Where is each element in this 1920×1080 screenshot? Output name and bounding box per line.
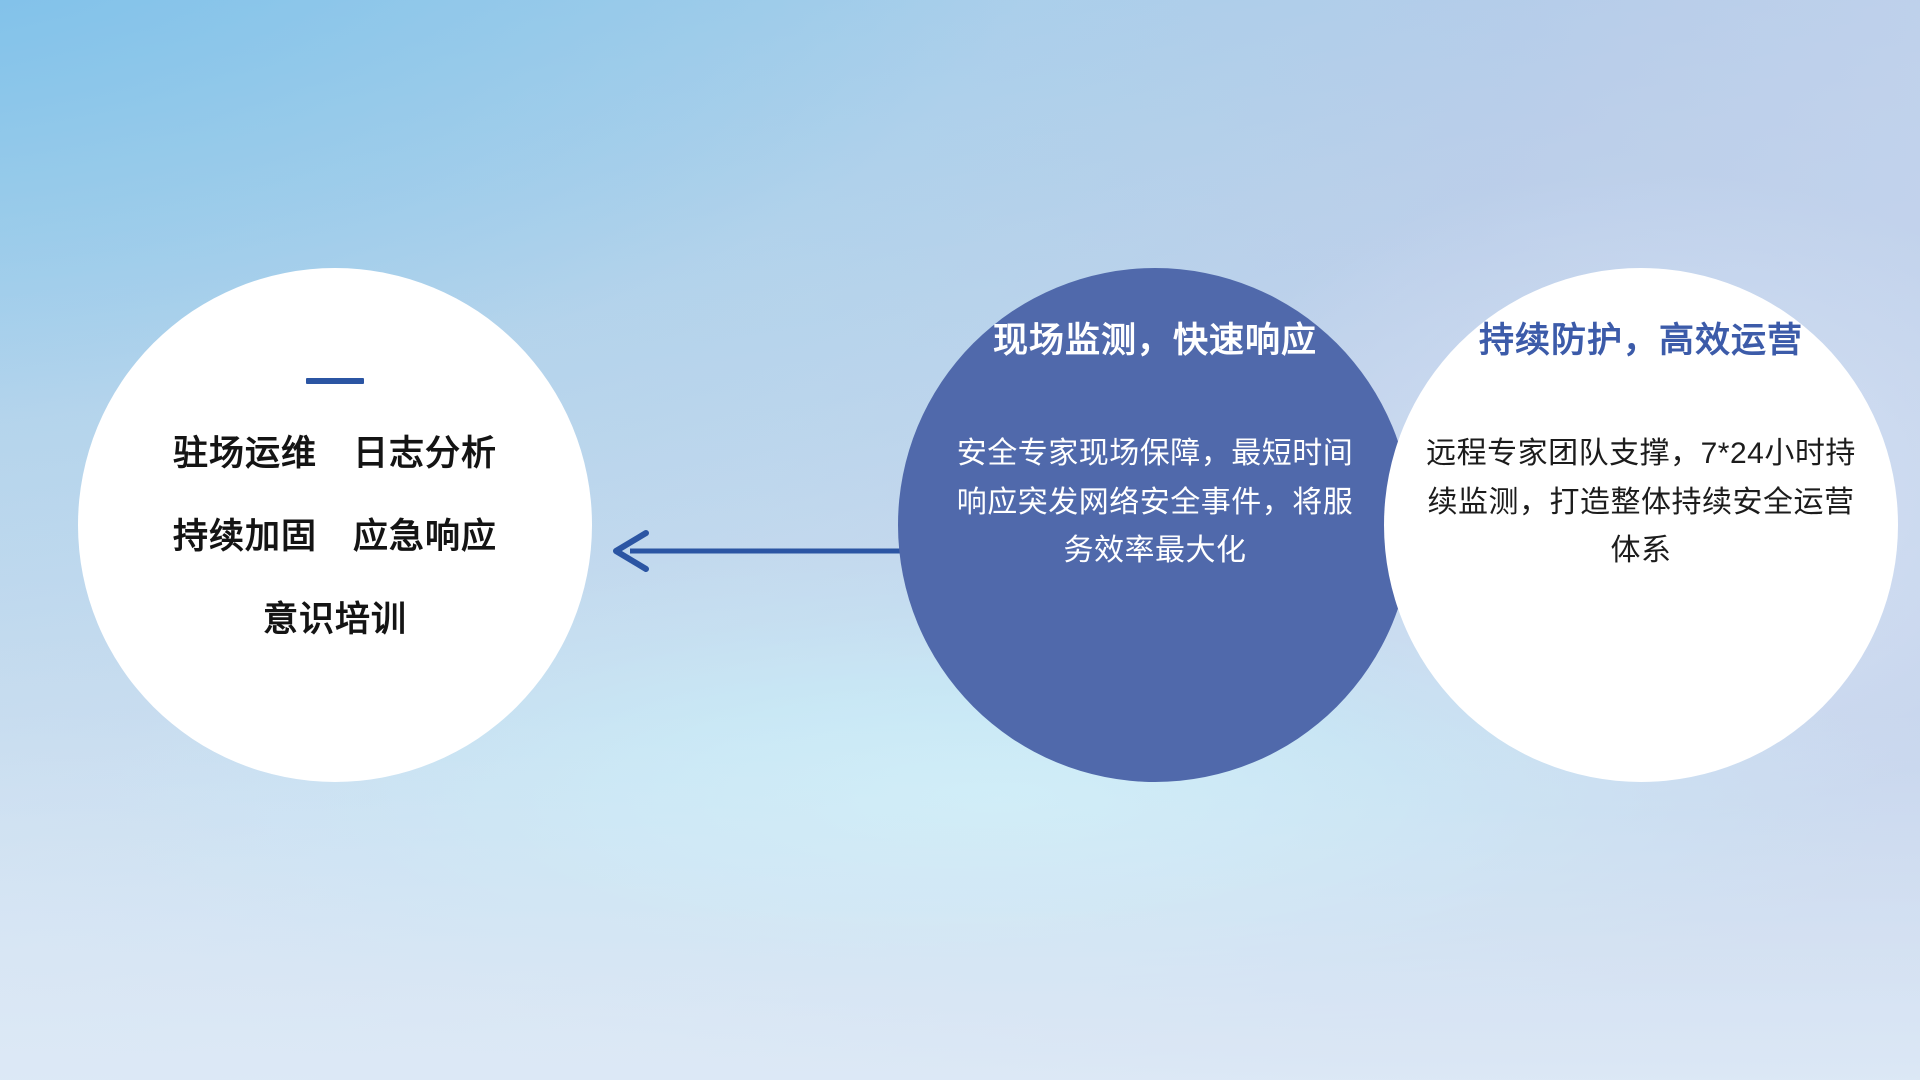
node-circle-onsite-monitoring[interactable]: 现场监测，快速响应 安全专家现场保障，最短时间响应突发网络安全事件，将服务效率最… bbox=[898, 268, 1412, 782]
onsite-monitoring-body: 安全专家现场保障，最短时间响应突发网络安全事件，将服务效率最大化 bbox=[924, 430, 1386, 576]
horizontal-rule-icon bbox=[306, 378, 364, 384]
capabilities-content: 驻场运维 日志分析 持续加固 应急响应 意识培训 bbox=[78, 378, 592, 637]
capability-line: 驻场运维 日志分析 bbox=[78, 436, 592, 471]
continuous-protection-content: 持续防护，高效运营 远程专家团队支撑，7*24小时持续监测，打造整体持续安全运营… bbox=[1406, 320, 1876, 576]
continuous-protection-title: 持续防护，高效运营 bbox=[1406, 320, 1876, 362]
capability-line: 意识培训 bbox=[78, 602, 592, 637]
node-circle-capabilities[interactable]: 驻场运维 日志分析 持续加固 应急响应 意识培训 bbox=[78, 268, 592, 782]
diagram-canvas: 驻场运维 日志分析 持续加固 应急响应 意识培训 现场监测，快速响应 安全专家现… bbox=[0, 0, 1920, 1080]
capability-line: 持续加固 应急响应 bbox=[78, 519, 592, 554]
node-circle-continuous-protection[interactable]: 持续防护，高效运营 远程专家团队支撑，7*24小时持续监测，打造整体持续安全运营… bbox=[1384, 268, 1898, 782]
continuous-protection-body: 远程专家团队支撑，7*24小时持续监测，打造整体持续安全运营体系 bbox=[1406, 430, 1876, 576]
onsite-monitoring-content: 现场监测，快速响应 安全专家现场保障，最短时间响应突发网络安全事件，将服务效率最… bbox=[924, 320, 1386, 576]
onsite-monitoring-title: 现场监测，快速响应 bbox=[924, 320, 1386, 362]
